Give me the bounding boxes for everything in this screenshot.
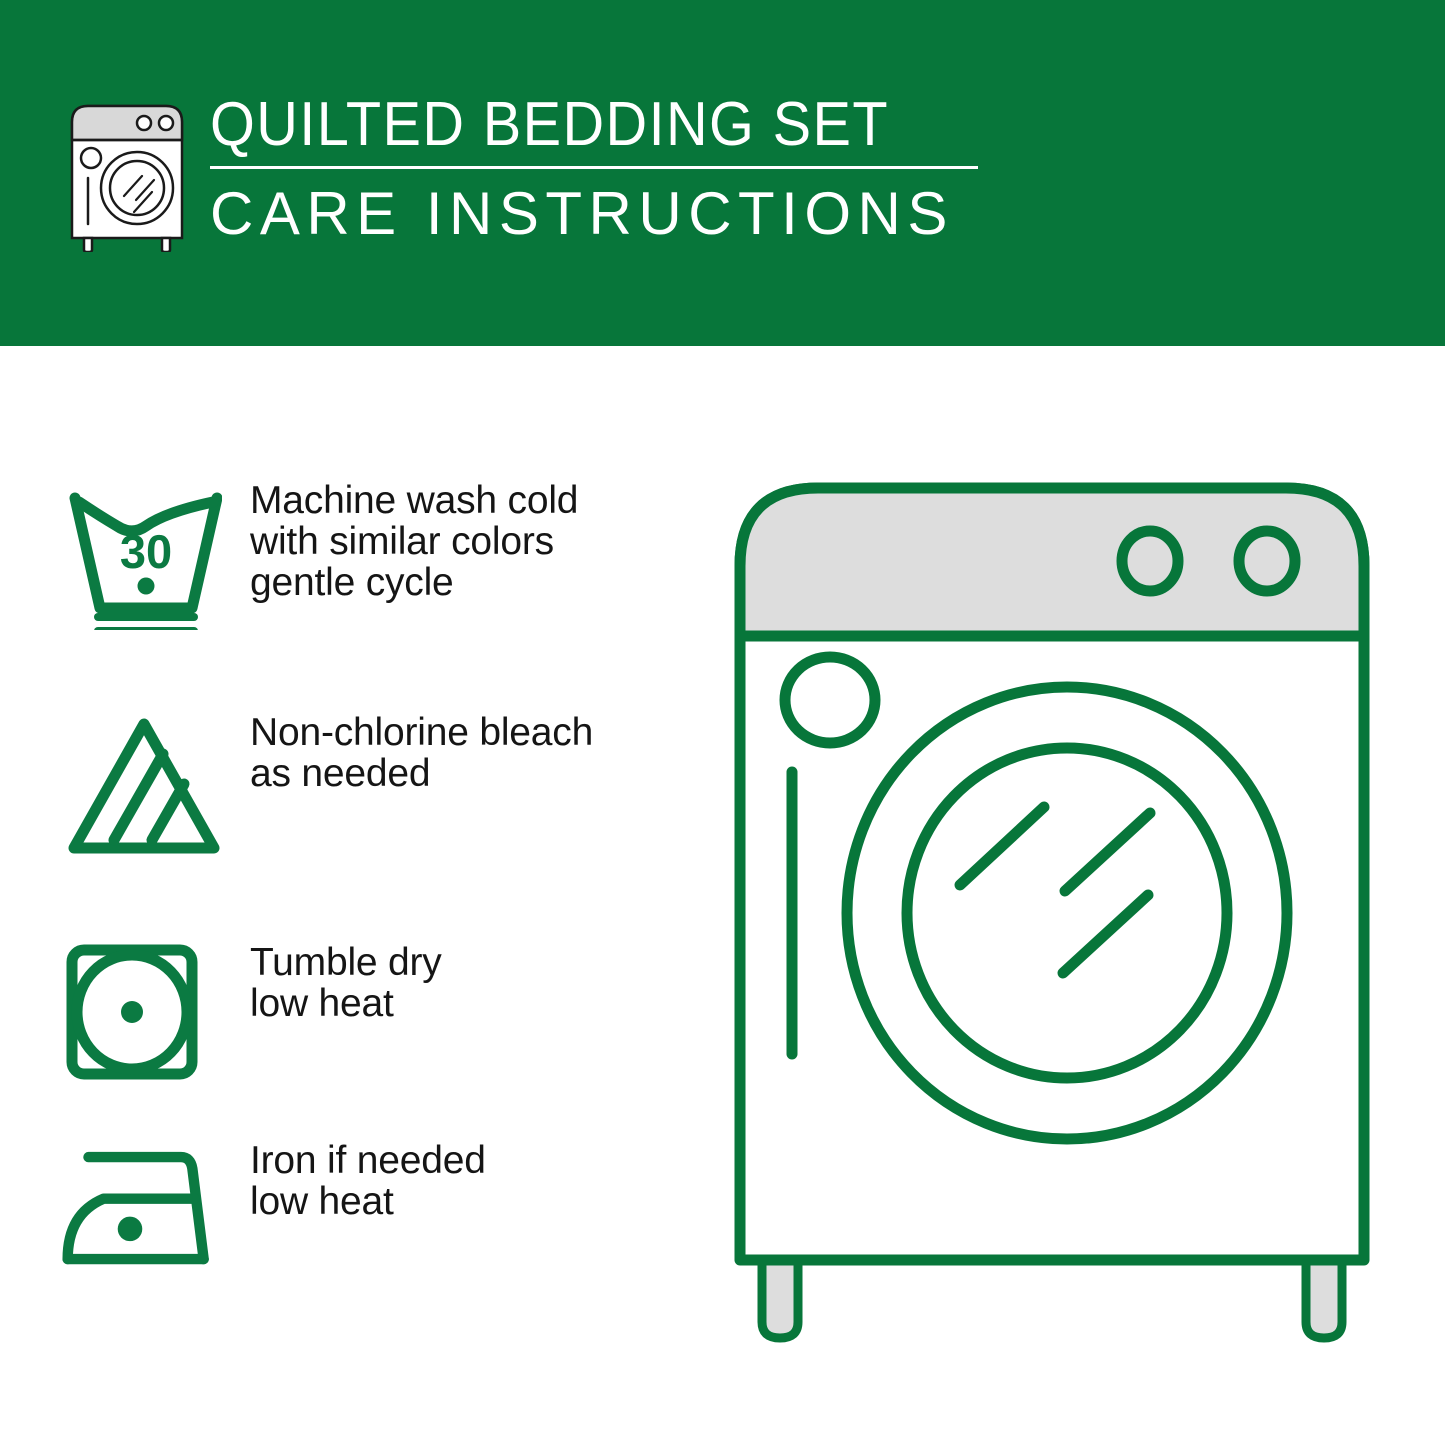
care-row-bleach: Non-chlorine bleach as needed <box>62 712 682 862</box>
front-load-washing-machine-illustration <box>722 470 1422 1350</box>
iron-low-heat-icon <box>62 1140 232 1280</box>
care-line: Iron if needed <box>250 1140 486 1181</box>
knob-right <box>1239 531 1295 591</box>
care-text-tumble-dry: Tumble dry low heat <box>232 942 442 1024</box>
page-subtitle: CARE INSTRUCTIONS <box>210 181 1045 247</box>
care-line: low heat <box>250 1181 486 1222</box>
washing-machine-icon <box>62 100 192 252</box>
care-line: with similar colors <box>250 521 578 562</box>
svg-text:30: 30 <box>120 525 172 578</box>
care-line: Non-chlorine bleach <box>250 712 593 753</box>
door-inner-ring <box>907 748 1227 1078</box>
care-text-machine-wash: Machine wash cold with similar colors ge… <box>232 480 578 603</box>
header-titles: QUILTED BEDDING SET CARE INSTRUCTIONS <box>210 92 1045 247</box>
care-text-bleach: Non-chlorine bleach as needed <box>232 712 593 794</box>
tumble-dry-low-heat-icon <box>62 942 232 1082</box>
leg-right <box>1306 1260 1342 1338</box>
care-row-machine-wash: 30 Machine wash cold with similar colors… <box>62 480 682 630</box>
care-row-iron: Iron if needed low heat <box>62 1140 682 1280</box>
care-line: Tumble dry <box>250 942 442 983</box>
knob-left <box>1122 531 1178 591</box>
header-content: QUILTED BEDDING SET CARE INSTRUCTIONS <box>62 92 1002 267</box>
leg-left <box>762 1260 798 1338</box>
non-chlorine-bleach-triangle-icon <box>62 712 232 862</box>
care-text-iron: Iron if needed low heat <box>232 1140 486 1222</box>
care-line: Machine wash cold <box>250 480 578 521</box>
care-line: as needed <box>250 753 593 794</box>
title-divider <box>210 166 978 169</box>
page-title: QUILTED BEDDING SET <box>210 92 987 158</box>
header-banner: QUILTED BEDDING SET CARE INSTRUCTIONS <box>0 0 1445 346</box>
care-line: gentle cycle <box>250 562 578 603</box>
care-row-tumble-dry: Tumble dry low heat <box>62 942 682 1082</box>
wash-tub-30-gentle-icon: 30 <box>62 480 232 630</box>
care-line: low heat <box>250 983 442 1024</box>
care-instructions-infographic: QUILTED BEDDING SET CARE INSTRUCTIONS 30 <box>0 0 1445 1445</box>
detergent-dispenser <box>785 657 875 743</box>
